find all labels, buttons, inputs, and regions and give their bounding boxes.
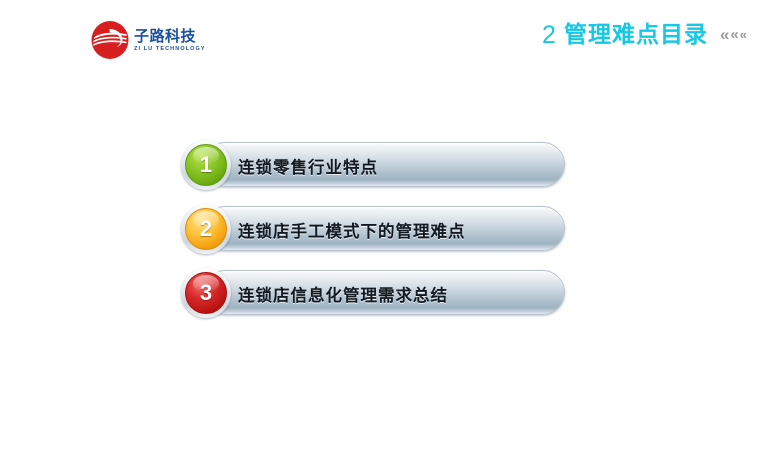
slide-canvas: 子路科技 ZI LU TECHNOLOGY 2 管理难点目录 « « « 连锁零… bbox=[0, 0, 765, 476]
agenda-list: 连锁零售行业特点 1 连锁店手工模式下的管理难点 2 连锁店信息化管理需求总结 bbox=[0, 140, 765, 332]
badge-disc: 1 bbox=[185, 144, 227, 186]
chevron-left-icon: « bbox=[740, 28, 747, 41]
section-number: 2 bbox=[542, 20, 556, 50]
agenda-badge-1: 1 bbox=[181, 140, 231, 190]
badge-number: 3 bbox=[200, 282, 212, 304]
chevron-left-decoration: « « « bbox=[720, 26, 747, 45]
zilu-logo-mark-icon bbox=[90, 20, 130, 60]
chevron-left-icon: « bbox=[720, 26, 729, 43]
badge-disc: 3 bbox=[185, 272, 227, 314]
badge-number: 2 bbox=[200, 218, 212, 240]
logo-english-name: ZI LU TECHNOLOGY bbox=[134, 45, 230, 53]
list-item[interactable]: 连锁零售行业特点 1 bbox=[0, 140, 765, 190]
agenda-bar[interactable]: 连锁店手工模式下的管理难点 bbox=[203, 206, 565, 251]
chevron-left-icon: « bbox=[730, 27, 738, 42]
list-item[interactable]: 连锁店信息化管理需求总结 3 bbox=[0, 268, 765, 318]
agenda-item-label: 连锁店手工模式下的管理难点 bbox=[238, 207, 466, 252]
badge-number: 1 bbox=[200, 154, 212, 176]
agenda-bar[interactable]: 连锁零售行业特点 bbox=[203, 142, 565, 187]
agenda-badge-2: 2 bbox=[181, 204, 231, 254]
slide-header: 子路科技 ZI LU TECHNOLOGY 2 管理难点目录 « « « bbox=[0, 0, 765, 90]
logo-wordmark: 子路科技 ZI LU TECHNOLOGY bbox=[134, 28, 230, 58]
agenda-item-label: 连锁零售行业特点 bbox=[238, 143, 378, 188]
list-item[interactable]: 连锁店手工模式下的管理难点 2 bbox=[0, 204, 765, 254]
page-title: 管理难点目录 bbox=[564, 20, 708, 50]
agenda-badge-3: 3 bbox=[181, 268, 231, 318]
agenda-bar[interactable]: 连锁店信息化管理需求总结 bbox=[203, 270, 565, 315]
company-logo: 子路科技 ZI LU TECHNOLOGY bbox=[90, 20, 230, 66]
badge-disc: 2 bbox=[185, 208, 227, 250]
header-title-group: 2 管理难点目录 « « « bbox=[542, 20, 747, 50]
agenda-item-label: 连锁店信息化管理需求总结 bbox=[238, 271, 448, 316]
logo-chinese-name: 子路科技 bbox=[134, 28, 230, 45]
